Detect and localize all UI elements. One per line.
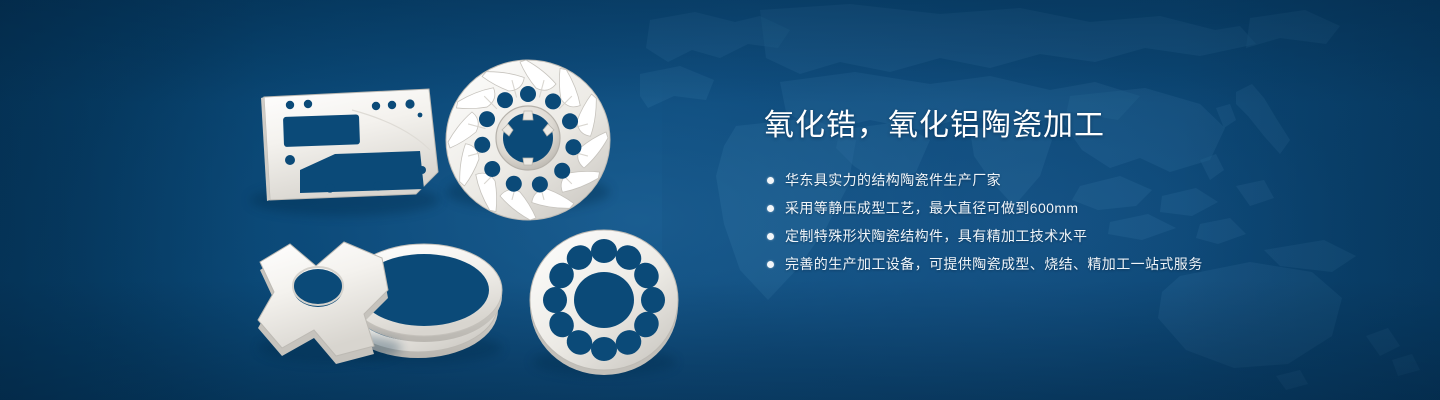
feature-item-4-label: 完善的生产加工设备，可提供陶瓷成型、烧结、精加工一站式服务 (785, 254, 1203, 275)
feature-item-2-label: 采用等静压成型工艺，最大直径可做到600mm (785, 198, 1078, 219)
bullet-dot-icon (767, 261, 774, 268)
feature-item-1: 华东具实力的结构陶瓷件生产厂家 (764, 170, 1384, 191)
product-ceramic-impeller (445, 57, 612, 224)
bullet-dot-icon (767, 177, 774, 184)
product-image-group (0, 0, 760, 400)
feature-item-3-label: 定制特殊形状陶瓷结构件，具有精加工技术水平 (785, 226, 1087, 247)
feature-item-4: 完善的生产加工设备，可提供陶瓷成型、烧结、精加工一站式服务 (764, 254, 1384, 275)
banner-copy: 氧化锆，氧化铝陶瓷加工 华东具实力的结构陶瓷件生产厂家 采用等静压成型工艺，最大… (764, 108, 1384, 282)
feature-item-2: 采用等静压成型工艺，最大直径可做到600mm (764, 198, 1384, 219)
hero-banner: 氧化锆，氧化铝陶瓷加工 华东具实力的结构陶瓷件生产厂家 采用等静压成型工艺，最大… (0, 0, 1440, 400)
feature-item-1-label: 华东具实力的结构陶瓷件生产厂家 (785, 170, 1001, 191)
bullet-dot-icon (767, 233, 774, 240)
product-ceramic-plate (250, 89, 440, 216)
bullet-dot-icon (767, 205, 774, 212)
product-ceramic-cross-part (258, 242, 402, 364)
product-ceramic-perforated-disc (530, 230, 678, 376)
feature-list: 华东具实力的结构陶瓷件生产厂家 采用等静压成型工艺，最大直径可做到600mm 定… (764, 170, 1384, 275)
feature-item-3: 定制特殊形状陶瓷结构件，具有精加工技术水平 (764, 226, 1384, 247)
banner-headline: 氧化锆，氧化铝陶瓷加工 (764, 108, 1384, 144)
